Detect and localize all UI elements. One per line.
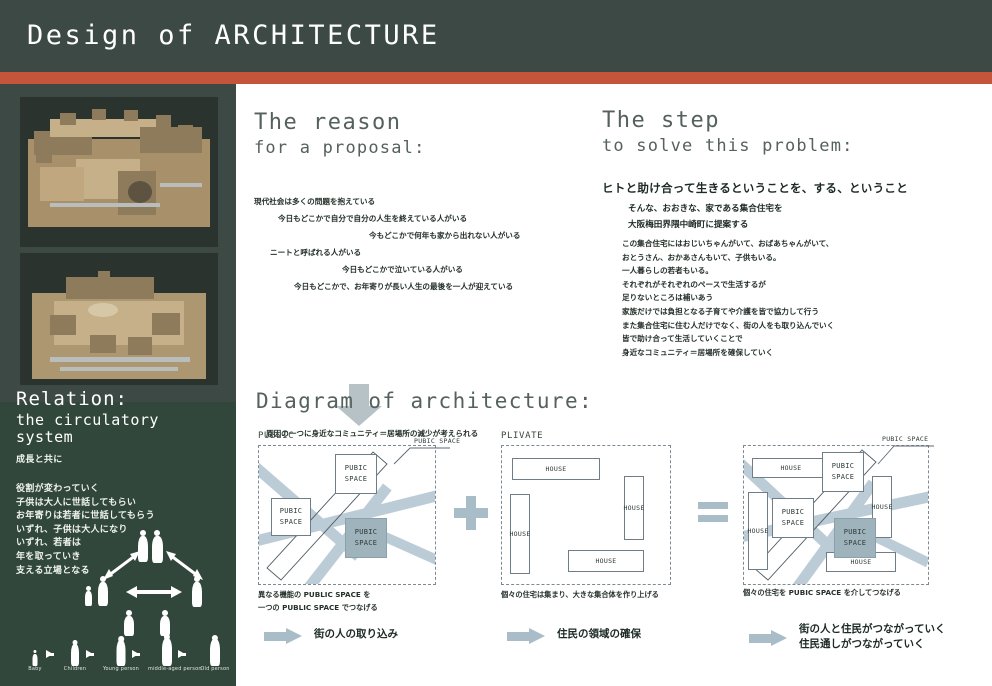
reason-line: 今日もどこかで自分で自分の人生を終えている人がいる <box>254 210 614 227</box>
step-subtitle-line: そんな、おおきな、家である集合住宅を <box>628 201 783 217</box>
step-body-line: それぞれがそれぞれのペースで生活するが <box>622 278 834 292</box>
age-stage-label: middle-aged person <box>148 666 186 672</box>
step-heading-line1: The step <box>602 108 854 133</box>
house-box: HOUSE <box>510 494 530 574</box>
house-box: HOUSE <box>748 492 768 570</box>
result-line: 住民の領域の確保 <box>557 627 641 642</box>
diagram-heading: Diagram of architecture: <box>256 389 593 413</box>
public-space-box: PUBIC SPACE <box>271 498 311 536</box>
relation-subtitle-line1: the circulatory <box>16 412 159 429</box>
result-line: 街の人と住民がつながっていく <box>799 622 945 637</box>
step-body-line: 家族だけでは負担となる子育てや介護を皆で協力して行う <box>622 305 834 319</box>
diagram-result-public: 街の人の取り込み <box>314 627 398 642</box>
diagram-private-label: PLIVATE <box>501 431 543 441</box>
reason-line: 現代社会は多くの問題を抱えている <box>254 193 614 210</box>
public-space-box-highlight: PUBIC SPACE <box>834 518 876 558</box>
diagram-result-private: 住民の領域の確保 <box>557 627 641 642</box>
model-photo-top-view <box>20 253 218 385</box>
public-space-label-line2: SPACE <box>832 472 855 483</box>
public-space-label-line2: SPACE <box>345 474 368 485</box>
relation-title: Relation: <box>16 388 128 410</box>
public-space-label-line2: SPACE <box>355 538 378 549</box>
plus-operator-icon <box>454 496 488 530</box>
model-photo-perspective <box>20 97 218 247</box>
reason-line: ニートと呼ばれる人がいる <box>254 244 614 261</box>
relation-body-line: 子供は大人に世話してもらい <box>16 497 155 511</box>
person-silhouette <box>196 636 234 666</box>
step-lead-text: ヒトと助け合って生きるということを、する、ということ <box>602 180 908 196</box>
public-space-label-line2: SPACE <box>782 518 805 529</box>
public-space-label-line2: SPACE <box>844 538 867 549</box>
house-label: HOUSE <box>780 464 801 472</box>
house-box: HOUSE <box>752 458 830 478</box>
caption-line: 個々の住宅は集まり、大きな集合体を作り上げる <box>501 589 659 602</box>
public-space-label-line1: PUBIC <box>844 527 867 538</box>
public-space-box: PUBIC SPACE <box>335 454 377 494</box>
callout-leader-line <box>870 440 940 468</box>
result-arrow-icon <box>749 630 787 646</box>
step-body-line: 足りないところは補いあう <box>622 291 834 305</box>
step-body-line: 身近なコミュニティ＝居場所を確保していく <box>622 346 834 360</box>
relation-subtitle: the circulatory system <box>16 412 159 446</box>
reason-body-text: 現代社会は多くの問題を抱えている今日もどこかで自分で自分の人生を終えている人がい… <box>254 193 614 295</box>
house-label: HOUSE <box>595 557 616 565</box>
age-stage-label: Young person <box>102 666 140 672</box>
caption-line: 異なる機能の PUBLIC SPACE を <box>258 589 378 602</box>
public-space-label-line2: SPACE <box>280 517 303 528</box>
public-space-label-line1: PUBIC <box>355 527 378 538</box>
callout-label: PUBIC SPACE <box>414 437 460 445</box>
diagram-result-combined: 街の人と住民がつながっていく住民通しがつながっていく <box>799 622 945 652</box>
arrow-up-right-icon <box>162 548 206 582</box>
age-progression-arrow-icon <box>178 650 185 658</box>
diagram-caption-combined: 個々の住宅を PUBIC SPACE を介してつなげる <box>743 587 901 600</box>
arrow-horizontal-icon <box>126 584 182 600</box>
circulatory-figure-diagram <box>78 528 228 624</box>
house-label: HOUSE <box>850 558 871 566</box>
public-space-label-line1: PUBIC <box>832 461 855 472</box>
relation-lead-text: 成長と共に <box>16 452 63 465</box>
house-label: HOUSE <box>747 527 768 535</box>
age-progression-diagram: BabyChildrenYoung personmiddle-aged pers… <box>14 636 236 682</box>
reason-heading-line1: The reason <box>254 110 426 135</box>
age-stage-label: Old person <box>196 666 234 672</box>
step-heading-line2: to solve this problem: <box>602 136 854 156</box>
relation-body-line: 役割が変わっていく <box>16 483 155 497</box>
house-box: HOUSE <box>512 458 600 480</box>
house-label: HOUSE <box>545 465 566 473</box>
header-accent-rule <box>0 72 992 84</box>
page-title: Design of ARCHITECTURE <box>27 20 440 51</box>
reason-heading-line2: for a proposal: <box>254 138 426 158</box>
public-space-label-line1: PUBIC <box>345 463 368 474</box>
reason-line: 今日もどこかで泣いている人がいる <box>254 261 614 278</box>
diagram-public-label: PUBLIC <box>258 431 294 441</box>
public-space-box: PUBIC SPACE <box>822 452 864 492</box>
caption-line: 個々の住宅を PUBIC SPACE を介してつなげる <box>743 587 901 600</box>
step-body-line: おとうさん、おかあさんもいて、子供もいる。 <box>622 251 834 265</box>
house-label: HOUSE <box>871 503 892 511</box>
result-arrow-icon <box>264 628 302 644</box>
age-progression-arrow-icon <box>46 650 53 658</box>
relation-subtitle-line2: system <box>16 429 159 446</box>
callout-label: PUBIC SPACE <box>882 435 928 443</box>
house-label: HOUSE <box>623 504 644 512</box>
equals-operator-icon <box>698 502 728 524</box>
public-space-label-line1: PUBIC <box>782 507 805 518</box>
main-content: The reason for a proposal: 現代社会は多くの問題を抱え… <box>236 84 992 686</box>
step-body-line: この集合住宅にはおじいちゃんがいて、おばあちゃんがいて、 <box>622 237 834 251</box>
poster-root: Design of ARCHITECTURE <box>0 0 992 686</box>
result-line: 街の人の取り込み <box>314 627 398 642</box>
public-space-box-highlight: PUBIC SPACE <box>345 518 387 558</box>
age-stage-label: Baby <box>16 666 54 672</box>
age-stage-label: Children <box>56 666 94 672</box>
diagram-panel-private: HOUSE HOUSE HOUSE HOUSE <box>501 445 671 585</box>
reason-line: 今日もどこかで、お年寄りが長い人生の最後を一人が迎えている <box>254 278 614 295</box>
step-subtitle-line: 大阪梅田界隈中崎町に提案する <box>628 217 783 233</box>
result-arrow-icon <box>507 628 545 644</box>
step-heading: The step to solve this problem: <box>602 108 854 156</box>
step-body-text: この集合住宅にはおじいちゃんがいて、おばあちゃんがいて、おとうさん、おかあさんも… <box>622 237 834 359</box>
caption-line: 一つの PUBLIC SPACE でつなげる <box>258 602 378 615</box>
step-subtitle-text: そんな、おおきな、家である集合住宅を大阪梅田界隈中崎町に提案する <box>628 201 783 233</box>
reason-heading: The reason for a proposal: <box>254 110 426 158</box>
diagram-caption-public: 異なる機能の PUBLIC SPACE を一つの PUBLIC SPACE でつ… <box>258 589 378 614</box>
house-box: HOUSE <box>624 476 644 540</box>
reason-line: 今もどこかで何年も家から出れない人がいる <box>254 227 614 244</box>
result-line: 住民通しがつながっていく <box>799 637 945 652</box>
arrow-up-left-icon <box>100 548 144 582</box>
step-body-line: また集合住宅に住む人だけでなく、街の人をも取り込んでいく <box>622 319 834 333</box>
age-stage: Old person <box>196 636 234 672</box>
age-progression-arrow-icon <box>132 650 139 658</box>
callout-leader-line <box>384 442 454 470</box>
age-progression-arrow-icon <box>86 650 93 658</box>
public-space-box: PUBIC SPACE <box>772 498 814 538</box>
step-body-line: 一人暮らしの若者もいる。 <box>622 264 834 278</box>
diagram-caption-private: 個々の住宅は集まり、大きな集合体を作り上げる <box>501 589 659 602</box>
step-body-line: 皆で助け合って生活していくことで <box>622 332 834 346</box>
house-label: HOUSE <box>509 530 530 538</box>
relation-body-line: お年寄りは若者に世話してもらう <box>16 510 155 524</box>
house-box: HOUSE <box>568 550 644 572</box>
public-space-label-line1: PUBIC <box>280 506 303 517</box>
